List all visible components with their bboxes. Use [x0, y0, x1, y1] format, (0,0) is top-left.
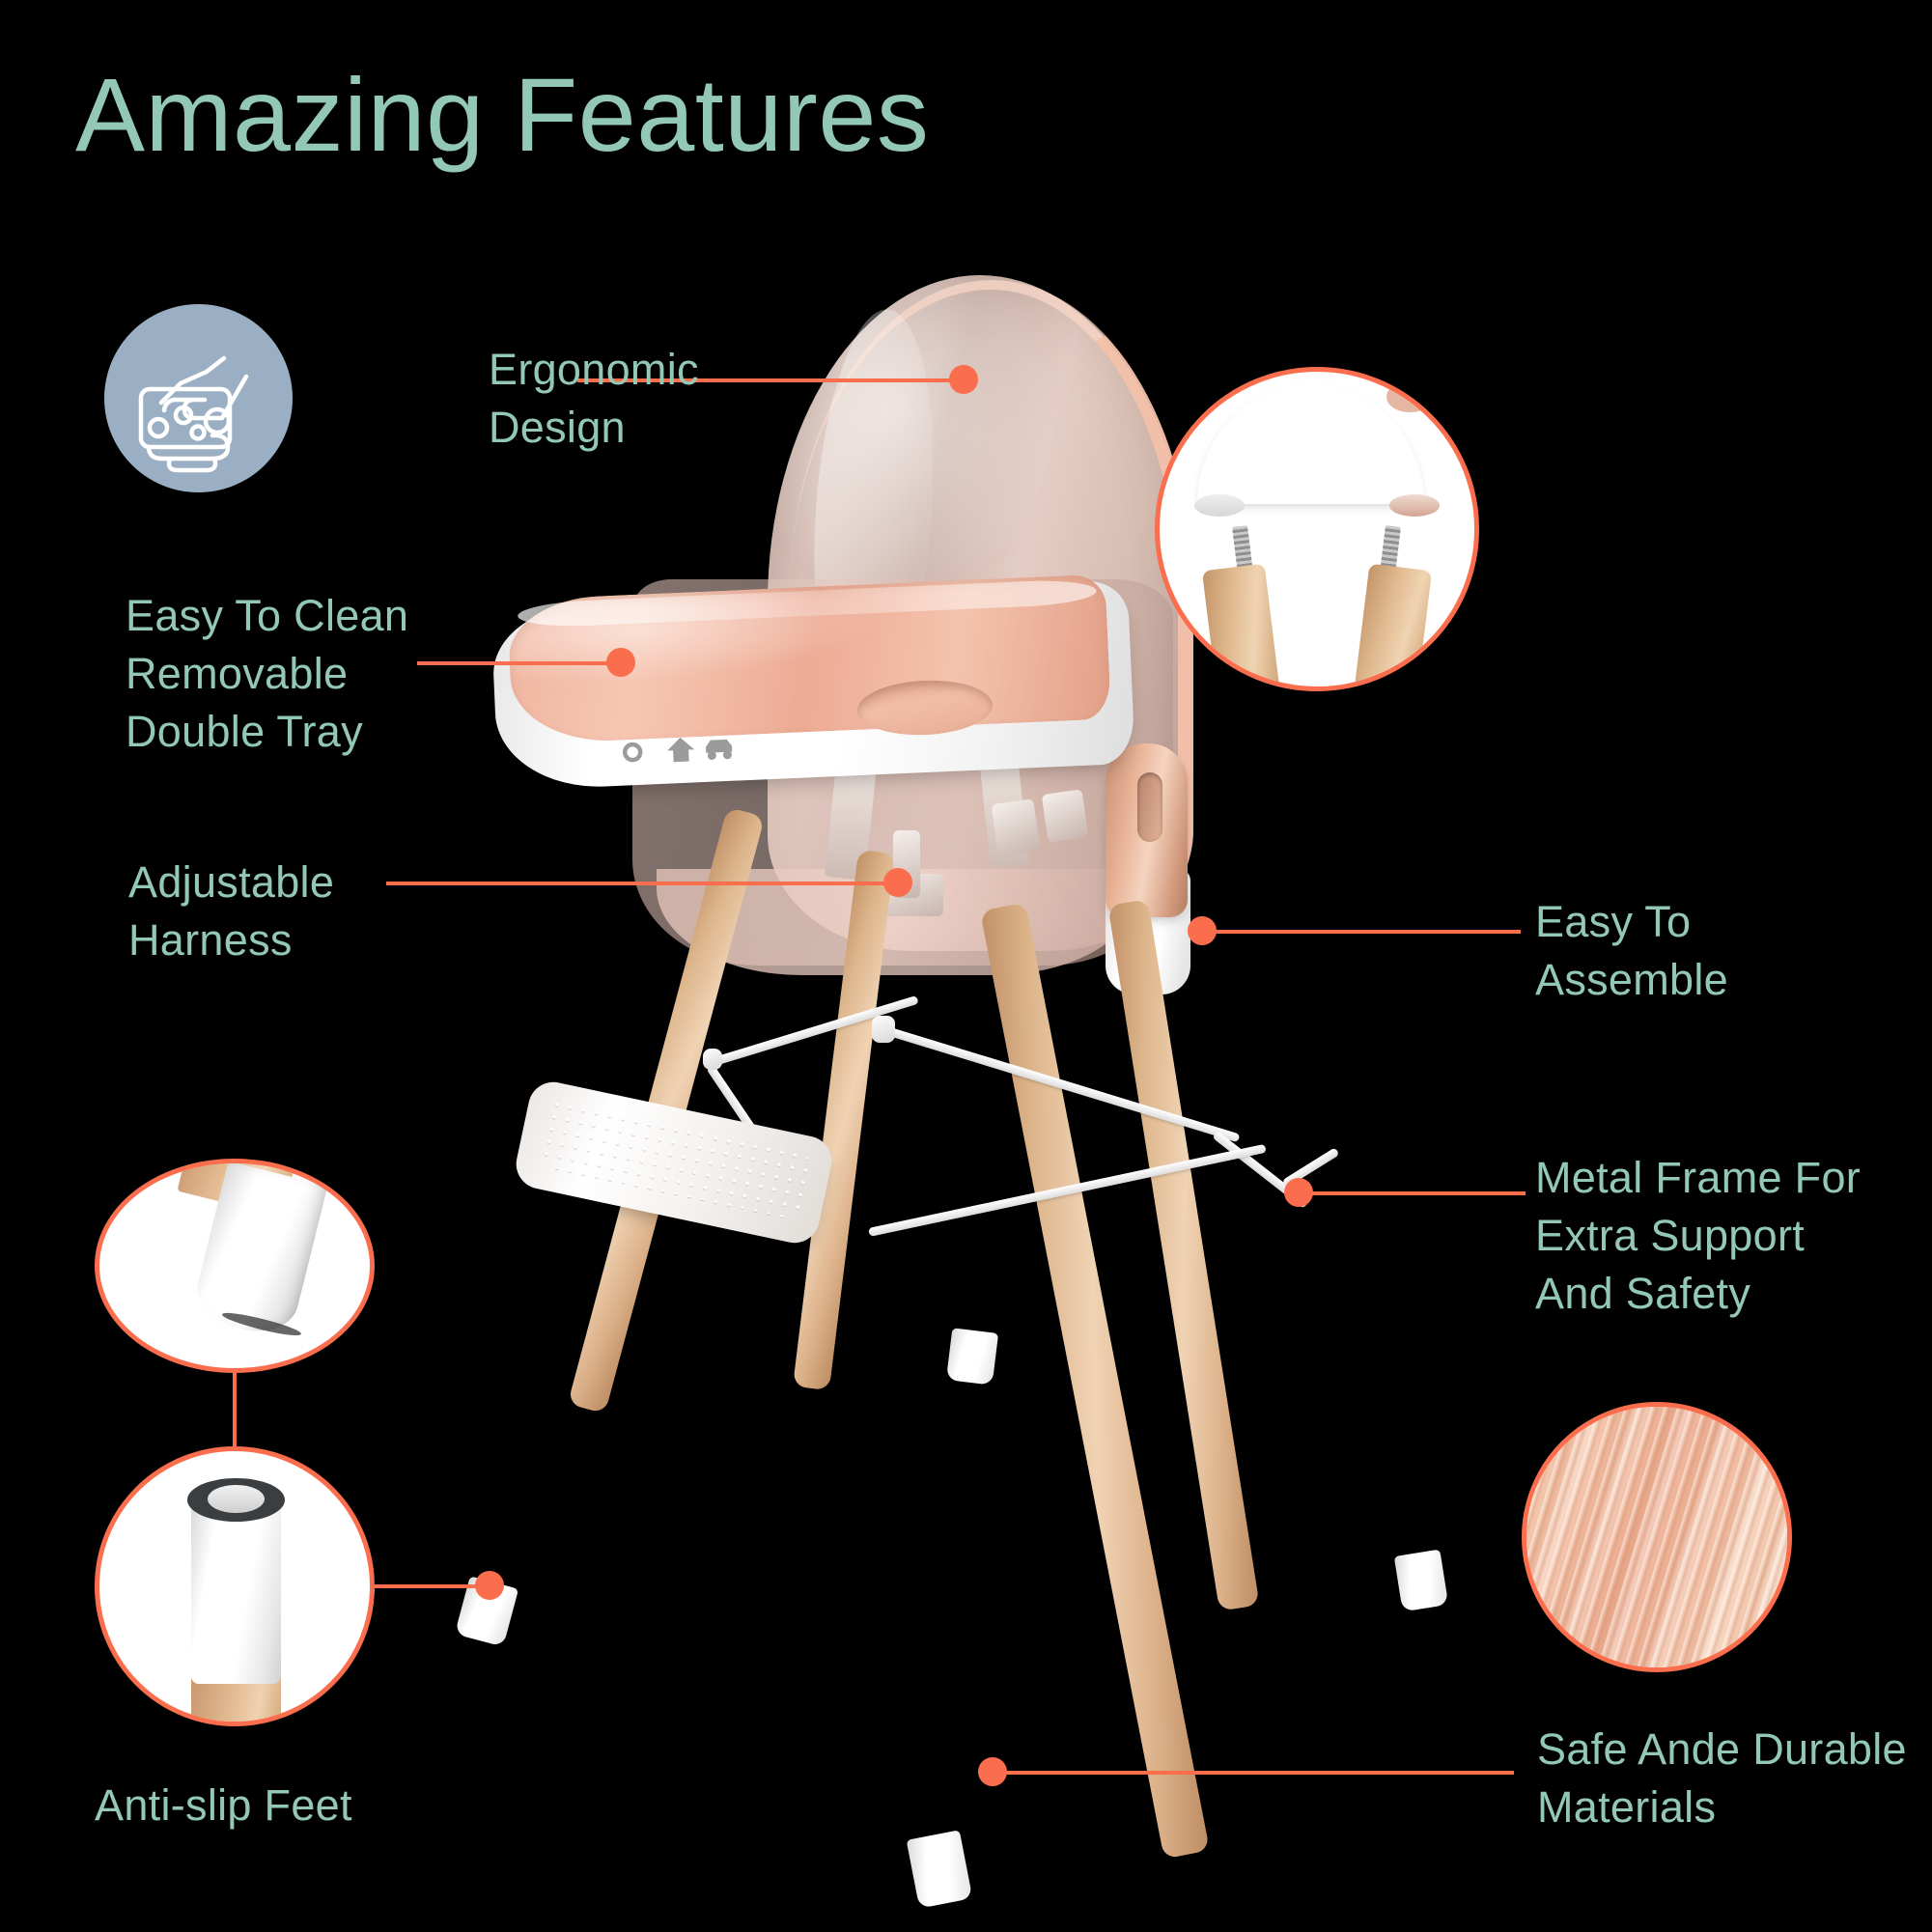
- assembly-wood-dowel-left: [1202, 564, 1280, 691]
- anti-slip-white-ferrule: [191, 1495, 280, 1684]
- callout-line-easy-to-assemble: [1202, 930, 1521, 934]
- harness-buckle-right: [1042, 789, 1089, 842]
- callout-dot-easy-to-clean: [606, 648, 635, 677]
- leg-front-right: [980, 903, 1210, 1860]
- assembly-bracket-socket-left: [1194, 494, 1245, 517]
- callout-line-antislip-inset-connector: [233, 1371, 237, 1448]
- harness-buckle-left: [991, 798, 1040, 856]
- feature-label-easy-to-assemble: Easy To Assemble: [1535, 893, 1728, 1009]
- feature-label-metal-frame: Metal Frame For Extra Support And Safety: [1535, 1149, 1861, 1323]
- feature-label-adjustable-harness: Adjustable Harness: [128, 854, 334, 969]
- callout-dot-ergonomic-design: [949, 365, 978, 394]
- callout-dot-adjustable-harness: [883, 868, 912, 897]
- leg-cap-front-right: [907, 1830, 973, 1908]
- beech-wood-grain-texture: [1522, 1402, 1792, 1672]
- inset-photo-wood-grain: [1522, 1402, 1792, 1672]
- callout-line-metal-frame: [1299, 1191, 1526, 1195]
- feature-label-safe-durable-materials: Safe Ande Durable Materials: [1537, 1721, 1907, 1836]
- callout-dot-antislip-feet: [475, 1571, 504, 1600]
- feature-label-easy-to-clean: Easy To Clean Removable Double Tray: [126, 587, 408, 761]
- inset-photo-easy-to-assemble: [1155, 367, 1479, 691]
- anti-slip-center-hole: [208, 1485, 265, 1513]
- anti-slip-wood-section: [191, 1678, 280, 1726]
- leg-cap-rear-right: [1394, 1550, 1448, 1612]
- callout-line-safe-durable-materials: [993, 1771, 1514, 1775]
- tray-decal-icons: [620, 728, 737, 766]
- leg-cap-rear-left: [946, 1328, 998, 1385]
- footrest-nonslip-dots: [537, 1097, 812, 1220]
- hand-sponge-icon: [104, 304, 293, 492]
- frame-rod-joint-left: [703, 1049, 722, 1070]
- assembly-wood-dowel-right: [1354, 564, 1432, 691]
- feature-label-antislip-feet: Anti-slip Feet: [95, 1777, 352, 1834]
- callout-dot-safe-durable-materials: [978, 1757, 1007, 1786]
- callout-line-adjustable-harness: [386, 882, 898, 885]
- feature-label-ergonomic-design: Ergonomic Design: [489, 341, 699, 457]
- inset-photo-leg-cap: [95, 1159, 375, 1373]
- assembly-bracket-socket-right: [1389, 494, 1440, 517]
- easy-to-clean-icon-badge: [104, 304, 293, 492]
- callout-line-easy-to-clean: [417, 661, 631, 665]
- inset-photo-anti-slip-pad: [95, 1446, 375, 1726]
- frame-rod-joint-top: [872, 1016, 895, 1043]
- callout-line-antislip-feet: [375, 1584, 490, 1588]
- assembly-bracket-rose-tip: [1386, 381, 1434, 413]
- recline-adjust-slot: [1137, 772, 1162, 842]
- callout-dot-easy-to-assemble: [1188, 916, 1217, 945]
- callout-dot-metal-frame: [1284, 1178, 1313, 1207]
